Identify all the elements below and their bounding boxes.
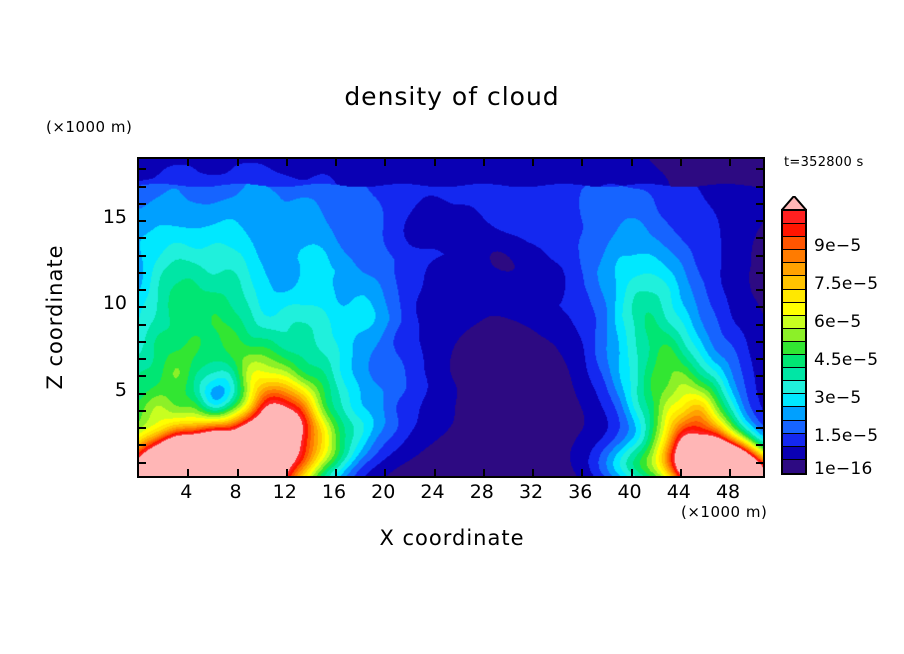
z-tick bbox=[756, 289, 763, 291]
colorbar-band bbox=[783, 421, 805, 434]
z-tick bbox=[139, 341, 146, 343]
colorbar-band bbox=[783, 407, 805, 420]
colorbar-band bbox=[783, 394, 805, 407]
x-tick bbox=[187, 159, 189, 166]
z-tick bbox=[756, 462, 763, 464]
z-tick bbox=[756, 203, 763, 205]
z-tick bbox=[139, 375, 146, 377]
colorbar-tick-label: 1.5e−5 bbox=[814, 426, 878, 446]
z-tick bbox=[139, 289, 146, 291]
z-tick bbox=[139, 168, 146, 170]
x-tick-label: 16 bbox=[314, 481, 354, 503]
z-tick bbox=[756, 375, 763, 377]
z-tick-label: 5 bbox=[95, 379, 127, 401]
z-tick bbox=[756, 306, 763, 308]
colorbar-band bbox=[783, 250, 805, 263]
colorbar-band bbox=[783, 263, 805, 276]
x-tick-label: 8 bbox=[216, 481, 256, 503]
z-tick bbox=[756, 255, 763, 257]
z-tick bbox=[139, 410, 146, 412]
colorbar-band bbox=[783, 276, 805, 289]
colorbar-tick-label: 6e−5 bbox=[814, 312, 862, 332]
x-tick bbox=[483, 159, 485, 166]
x-tick bbox=[729, 159, 731, 166]
x-tick bbox=[384, 159, 386, 166]
z-tick bbox=[139, 203, 146, 205]
x-tick bbox=[335, 469, 337, 476]
x-tick bbox=[286, 159, 288, 166]
x-tick-label: 12 bbox=[265, 481, 305, 503]
x-tick-label: 24 bbox=[413, 481, 453, 503]
z-tick bbox=[756, 186, 763, 188]
z-tick bbox=[139, 358, 146, 360]
colorbar-band bbox=[783, 355, 805, 368]
x-tick-label: 28 bbox=[462, 481, 502, 503]
x-tick-label: 48 bbox=[708, 481, 748, 503]
x-tick-label: 44 bbox=[659, 481, 699, 503]
z-tick bbox=[756, 410, 763, 412]
colorbar-band bbox=[783, 237, 805, 250]
z-tick bbox=[139, 462, 146, 464]
z-tick bbox=[139, 186, 146, 188]
x-tick bbox=[631, 159, 633, 166]
contour-plot-area bbox=[137, 157, 765, 478]
colorbar-tick-label: 1e−16 bbox=[814, 459, 873, 479]
colorbar-tick-label: 7.5e−5 bbox=[814, 274, 878, 294]
x-tick bbox=[187, 469, 189, 476]
z-tick bbox=[756, 358, 763, 360]
z-tick bbox=[139, 427, 146, 429]
z-tick bbox=[139, 255, 146, 257]
x-tick-label: 40 bbox=[610, 481, 650, 503]
x-tick bbox=[237, 159, 239, 166]
z-axis-unit-label: (×1000 m) bbox=[46, 118, 132, 136]
contour-field-canvas bbox=[139, 159, 763, 476]
colorbar-band bbox=[783, 460, 805, 473]
colorbar-band bbox=[783, 342, 805, 355]
chart-title: density of cloud bbox=[0, 82, 904, 111]
x-axis-unit-label: (×1000 m) bbox=[681, 503, 767, 521]
colorbar-tick-label: 3e−5 bbox=[814, 388, 862, 408]
colorbar-band bbox=[783, 381, 805, 394]
z-tick bbox=[139, 220, 146, 222]
x-tick bbox=[434, 469, 436, 476]
x-tick bbox=[729, 469, 731, 476]
z-tick bbox=[756, 444, 763, 446]
colorbar-tick-label: 4.5e−5 bbox=[814, 350, 878, 370]
z-tick-label: 15 bbox=[95, 206, 127, 228]
colorbar-band bbox=[783, 224, 805, 237]
x-tick bbox=[237, 469, 239, 476]
x-tick bbox=[286, 469, 288, 476]
colorbar-band bbox=[783, 211, 805, 224]
x-tick bbox=[434, 159, 436, 166]
x-tick bbox=[384, 469, 386, 476]
colorbar[interactable] bbox=[781, 209, 807, 475]
x-tick bbox=[680, 159, 682, 166]
x-tick-label: 32 bbox=[511, 481, 551, 503]
z-tick bbox=[756, 427, 763, 429]
x-tick-label: 20 bbox=[363, 481, 403, 503]
z-tick-label: 10 bbox=[95, 292, 127, 314]
x-tick-label: 4 bbox=[166, 481, 206, 503]
x-tick bbox=[581, 469, 583, 476]
y-axis-label: Z coordinate bbox=[43, 207, 67, 427]
x-axis-label: X coordinate bbox=[0, 526, 904, 550]
z-tick bbox=[139, 324, 146, 326]
x-tick bbox=[680, 469, 682, 476]
z-tick bbox=[139, 272, 146, 274]
z-tick bbox=[756, 168, 763, 170]
x-tick bbox=[335, 159, 337, 166]
colorbar-tick-label: 9e−5 bbox=[814, 236, 862, 256]
z-tick bbox=[139, 393, 146, 395]
z-tick bbox=[756, 272, 763, 274]
z-tick bbox=[756, 393, 763, 395]
colorbar-band bbox=[783, 290, 805, 303]
x-tick bbox=[631, 469, 633, 476]
x-tick bbox=[581, 159, 583, 166]
z-tick bbox=[756, 237, 763, 239]
z-tick bbox=[139, 237, 146, 239]
z-tick bbox=[139, 306, 146, 308]
x-tick bbox=[532, 159, 534, 166]
z-tick bbox=[139, 444, 146, 446]
z-tick bbox=[756, 341, 763, 343]
colorbar-band bbox=[783, 447, 805, 460]
colorbar-band bbox=[783, 329, 805, 342]
x-tick bbox=[483, 469, 485, 476]
colorbar-band bbox=[783, 303, 805, 316]
colorbar-band bbox=[783, 316, 805, 329]
x-tick bbox=[532, 469, 534, 476]
x-tick-label: 36 bbox=[560, 481, 600, 503]
time-annotation: t=352800 s bbox=[784, 155, 864, 170]
z-tick bbox=[756, 324, 763, 326]
z-tick bbox=[756, 220, 763, 222]
colorbar-band bbox=[783, 434, 805, 447]
colorbar-band bbox=[783, 368, 805, 381]
